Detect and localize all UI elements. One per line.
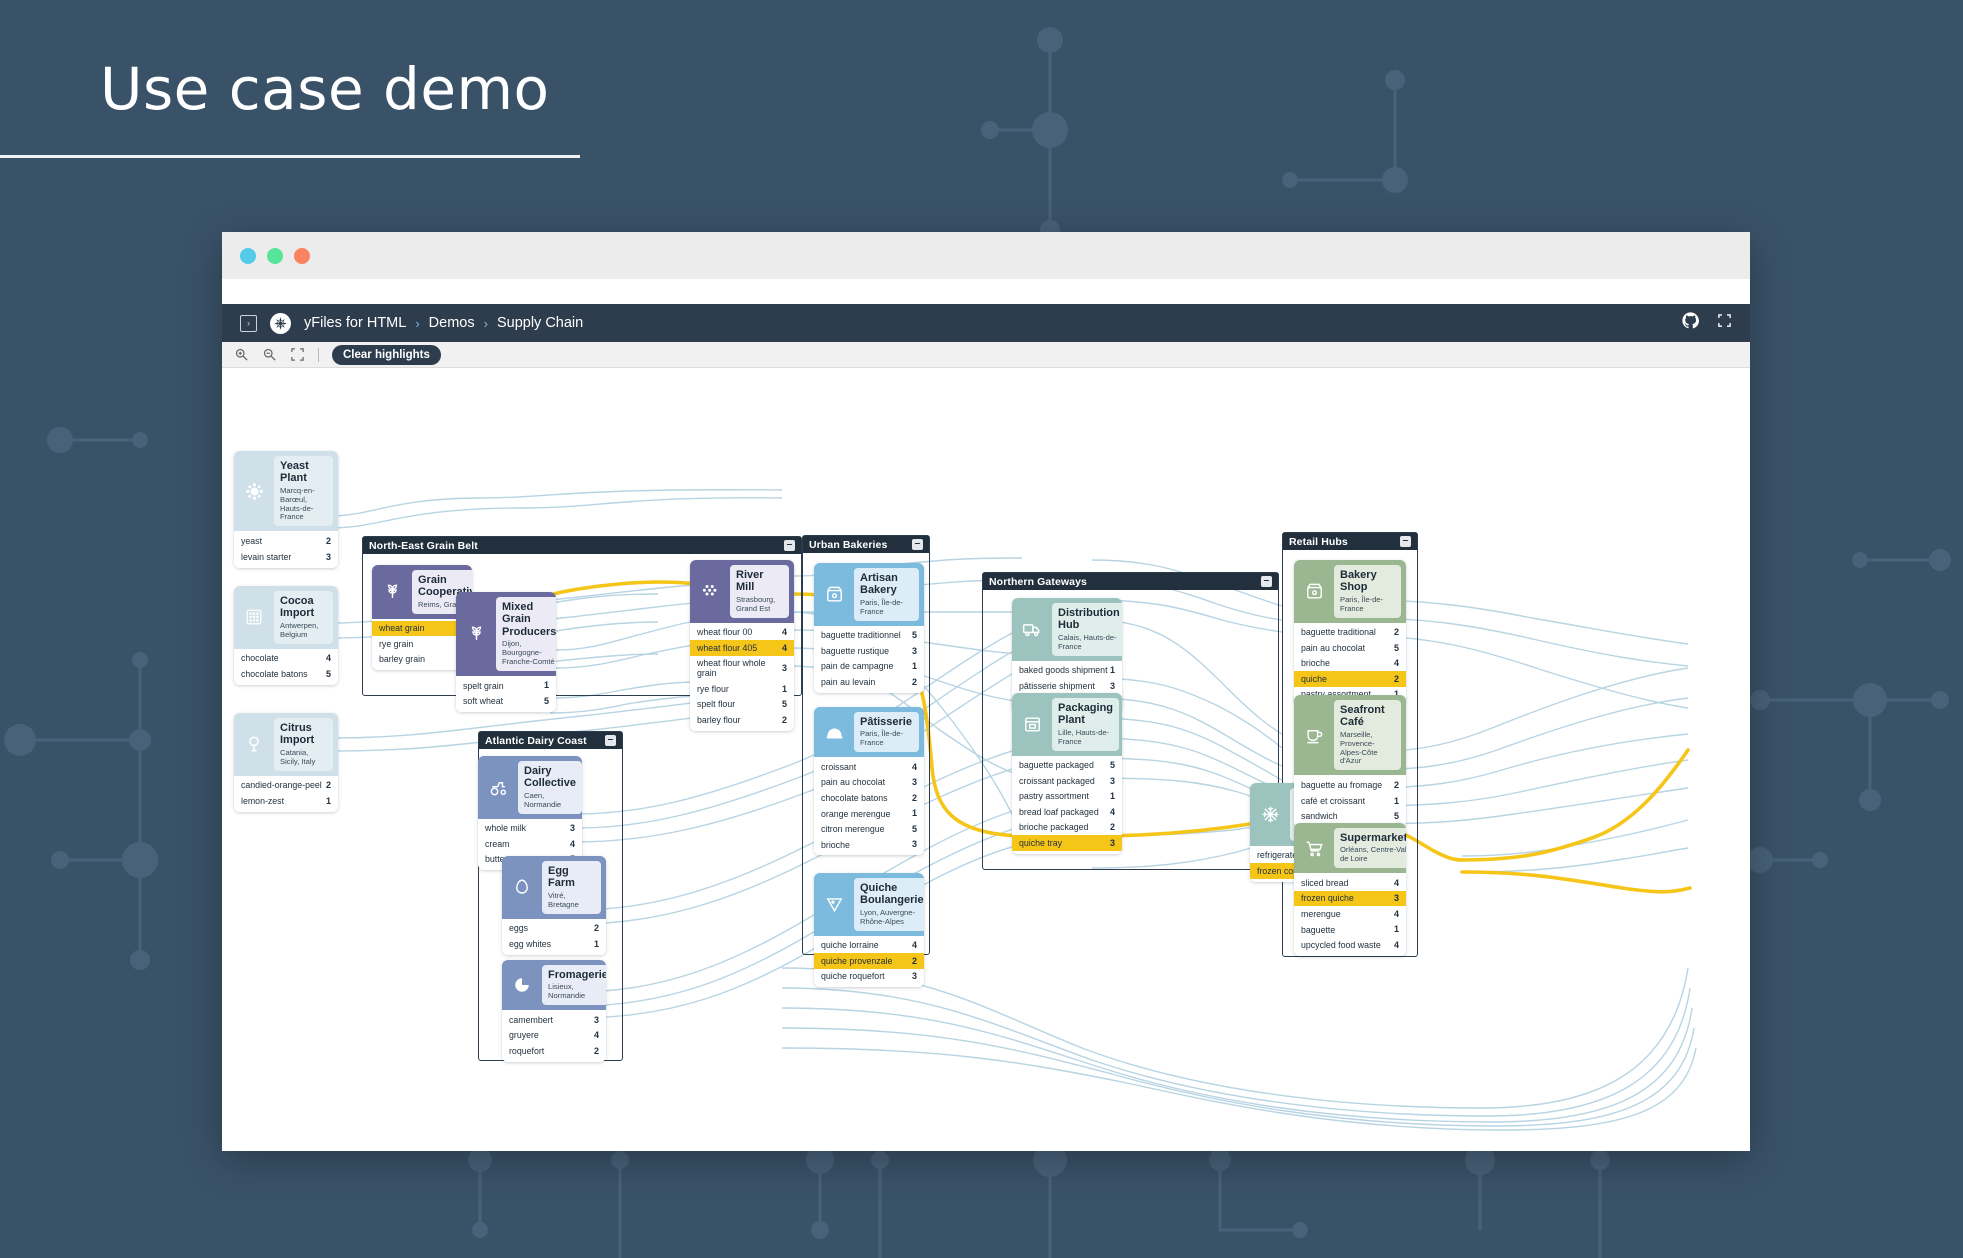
row-qty: 4 xyxy=(594,1030,599,1040)
node-title: Egg Farm xyxy=(548,865,595,890)
mill-icon xyxy=(695,565,725,618)
row-qty: 5 xyxy=(1394,811,1399,821)
breadcrumb-separator-icon: › xyxy=(484,316,488,331)
node-row[interactable]: baguette packaged 5 xyxy=(1012,758,1122,774)
node-title: Citrus Import xyxy=(280,722,327,747)
node-titlebox: Citrus Import Catania, Sicily, Italy xyxy=(274,718,333,771)
row-qty: 1 xyxy=(326,796,331,806)
node-header: Mixed Grain Producers Dijon, Bourgogne-F… xyxy=(456,592,556,676)
truck-icon xyxy=(1017,603,1047,656)
row-label: baguette packaged xyxy=(1019,760,1094,770)
row-qty: 3 xyxy=(1110,776,1115,786)
row-qty: 2 xyxy=(1394,627,1399,637)
node-header: Seafront Café Marseille, Provence-Alpes-… xyxy=(1294,695,1406,775)
fit-content-icon[interactable] xyxy=(290,347,305,362)
row-label: chocolate xyxy=(241,653,279,663)
row-label: wheat flour 00 xyxy=(697,627,752,637)
row-label: spelt grain xyxy=(463,681,504,691)
collapse-button[interactable]: – xyxy=(784,540,795,551)
breadcrumb-separator-icon: › xyxy=(415,316,419,331)
browser-urlbar[interactable] xyxy=(222,279,1750,304)
node-bakery-shop[interactable]: Bakery Shop Paris, Île-de-France baguett… xyxy=(1294,560,1406,705)
row-label: wheat grain xyxy=(379,623,424,633)
node-titlebox: Distribution Hub Calais, Hauts-de-France xyxy=(1052,603,1122,656)
row-qty: 2 xyxy=(1394,674,1399,684)
node-header: Artisan Bakery Paris, Île-de-France xyxy=(814,563,924,626)
row-label: roquefort xyxy=(509,1046,544,1056)
row-label: pain au chocolat xyxy=(1301,643,1365,653)
row-label: barley grain xyxy=(379,654,425,664)
node-row[interactable]: pain de campagne 1 xyxy=(814,659,924,675)
node-subtitle: Orléans, Centre-Val de Loire xyxy=(1340,846,1406,864)
row-qty: 3 xyxy=(594,1015,599,1025)
node-titlebox: Dairy Collective Caen, Normandie xyxy=(518,761,582,814)
browser-window: › yFiles for HTML › Demos › Supply Chain xyxy=(222,232,1750,1149)
yfiles-logo-icon xyxy=(270,313,291,334)
row-label: yeast xyxy=(241,536,262,546)
row-label: upcycled food waste xyxy=(1301,940,1381,950)
node-rows: candied-orange-peel 2 lemon-zest 1 xyxy=(234,776,338,812)
row-label: baguette traditional xyxy=(1301,627,1376,637)
zoom-out-icon[interactable] xyxy=(262,347,277,362)
node-fromagerie[interactable]: Fromagerie Lisieux, Normandie camembert … xyxy=(502,960,606,1062)
node-subtitle: Lisieux, Normandie xyxy=(548,983,606,1001)
node-subtitle: Lille, Hauts-de-France xyxy=(1058,729,1113,747)
node-subtitle: Calais, Hauts-de-France xyxy=(1058,634,1120,652)
row-label: candied-orange-peel xyxy=(241,780,322,790)
node-packaging-plant[interactable]: Packaging Plant Lille, Hauts-de-France b… xyxy=(1012,693,1122,854)
node-row[interactable]: brioche packaged 2 xyxy=(1012,820,1122,836)
row-qty: 2 xyxy=(326,780,331,790)
node-row[interactable]: quiche provenzale 2 xyxy=(814,953,924,969)
node-row[interactable]: cream 4 xyxy=(478,836,582,852)
row-qty: 3 xyxy=(1394,893,1399,903)
row-label: pain au levain xyxy=(821,677,875,687)
row-qty: 4 xyxy=(782,643,787,653)
node-row[interactable]: yeast 2 xyxy=(234,533,338,549)
row-qty: 2 xyxy=(912,793,917,803)
node-row[interactable]: whole milk 3 xyxy=(478,821,582,837)
node-title: Seafront Café xyxy=(1340,704,1395,729)
group-header: Retail Hubs – xyxy=(1283,533,1417,550)
node-row[interactable]: wheat flour 00 4 xyxy=(690,625,794,641)
row-label: eggs xyxy=(509,923,528,933)
node-supermarket[interactable]: Supermarket Orléans, Centre-Val de Loire… xyxy=(1294,823,1406,956)
node-subtitle: Paris, Île-de-France xyxy=(860,599,913,617)
node-title: Packaging Plant xyxy=(1058,702,1113,727)
croissant-icon xyxy=(819,712,849,752)
row-label: wheat flour whole grain xyxy=(697,658,782,678)
node-row[interactable]: wheat flour 405 4 xyxy=(690,640,794,656)
node-row[interactable]: brioche 3 xyxy=(814,837,924,853)
row-qty: 1 xyxy=(1110,791,1115,801)
minimize-dot[interactable] xyxy=(267,248,283,264)
node-row[interactable]: spelt grain 1 xyxy=(456,678,556,694)
node-row[interactable]: pain au levain 2 xyxy=(814,674,924,690)
node-row[interactable]: sliced bread 4 xyxy=(1294,875,1406,891)
node-header: Pâtisserie Paris, Île-de-France xyxy=(814,707,924,757)
node-header: Quiche Boulangerie Lyon, Auvergne-Rhône-… xyxy=(814,873,924,936)
group-header: Northern Gateways – xyxy=(983,573,1278,590)
row-label: egg whites xyxy=(509,939,551,949)
page-title: Use case demo xyxy=(100,55,550,123)
node-row[interactable]: lemon-zest 1 xyxy=(234,793,338,809)
node-row[interactable]: baguette traditional 2 xyxy=(1294,625,1406,641)
node-titlebox: Cocoa Import Antwerpen, Belgium xyxy=(274,591,333,644)
node-row[interactable]: spelt flour 5 xyxy=(690,697,794,713)
row-label: café et croissant xyxy=(1301,796,1365,806)
row-qty: 3 xyxy=(912,971,917,981)
node-titlebox: Fromagerie Lisieux, Normandie xyxy=(542,965,606,1005)
graph-canvas[interactable]: North-East Grain Belt – Atlantic Dairy C… xyxy=(222,368,1750,1151)
fullscreen-icon[interactable] xyxy=(1717,313,1732,333)
row-label: whole milk xyxy=(485,823,526,833)
node-row[interactable]: soft wheat 5 xyxy=(456,693,556,709)
node-rows: croissant 4 pain au chocolat 3 chocolate… xyxy=(814,757,924,855)
node-row[interactable]: gruyere 4 xyxy=(502,1028,606,1044)
node-titlebox: River Mill Strasbourg, Grand Est xyxy=(730,565,789,618)
row-qty: 3 xyxy=(326,552,331,562)
row-qty: 1 xyxy=(1110,665,1115,675)
node-header: Supermarket Orléans, Centre-Val de Loire xyxy=(1294,823,1406,873)
row-qty: 3 xyxy=(570,823,575,833)
row-label: citron merengue xyxy=(821,824,885,834)
row-label: pain au chocolat xyxy=(821,777,885,787)
node-row[interactable]: brioche 4 xyxy=(1294,656,1406,672)
row-label: quiche roquefort xyxy=(821,971,885,981)
row-label: pastry assortment xyxy=(1019,791,1089,801)
node-rows: spelt grain 1 soft wheat 5 xyxy=(456,676,556,712)
node-titlebox: Seafront Café Marseille, Provence-Alpes-… xyxy=(1334,700,1401,770)
node-title: Dairy Collective xyxy=(524,765,576,790)
row-qty: 4 xyxy=(1394,909,1399,919)
app-header: › yFiles for HTML › Demos › Supply Chain xyxy=(222,304,1750,342)
node-row[interactable]: quiche tray 3 xyxy=(1012,835,1122,851)
node-titlebox: Supermarket Orléans, Centre-Val de Loire xyxy=(1334,828,1406,868)
breadcrumb-item-supply-chain[interactable]: Supply Chain xyxy=(497,315,583,331)
node-subtitle: Catania, Sicily, Italy xyxy=(280,749,327,767)
node-rows: baguette packaged 5 croissant packaged 3… xyxy=(1012,756,1122,854)
cocoa-grid-icon xyxy=(239,591,269,644)
row-label: wheat flour 405 xyxy=(697,643,757,653)
snowflake-icon xyxy=(1255,788,1285,841)
row-qty: 5 xyxy=(1394,643,1399,653)
row-label: levain starter xyxy=(241,552,291,562)
node-row[interactable]: quiche lorraine 4 xyxy=(814,938,924,954)
node-header: River Mill Strasbourg, Grand Est xyxy=(690,560,794,623)
group-label: Atlantic Dairy Coast xyxy=(485,735,587,747)
row-label: camembert xyxy=(509,1015,553,1025)
browser-titlebar xyxy=(222,232,1750,279)
node-row[interactable]: rye flour 1 xyxy=(690,681,794,697)
row-qty: 3 xyxy=(912,839,917,849)
row-qty: 4 xyxy=(326,653,331,663)
node-title: Distribution Hub xyxy=(1058,607,1120,632)
row-qty: 5 xyxy=(782,699,787,709)
node-citrus-import[interactable]: Citrus Import Catania, Sicily, Italy can… xyxy=(234,713,338,812)
node-row[interactable]: eggs 2 xyxy=(502,921,606,937)
node-artisan-bakery[interactable]: Artisan Bakery Paris, Île-de-France bagu… xyxy=(814,563,924,693)
node-titlebox: Artisan Bakery Paris, Île-de-France xyxy=(854,568,919,621)
node-row[interactable]: citron merengue 5 xyxy=(814,821,924,837)
citrus-icon xyxy=(239,718,269,771)
row-label: quiche tray xyxy=(1019,838,1062,848)
maximize-dot[interactable] xyxy=(294,248,310,264)
node-title: Pâtisserie xyxy=(860,716,913,728)
node-row[interactable]: wheat flour whole grain 3 xyxy=(690,656,794,681)
node-subtitle: Lyon, Auvergne-Rhône-Alpes xyxy=(860,909,924,927)
row-label: pain de campagne xyxy=(821,661,893,671)
row-label: baguette xyxy=(1301,925,1335,935)
collapse-button[interactable]: – xyxy=(605,735,616,746)
node-title: River Mill xyxy=(736,569,783,594)
header-actions xyxy=(1682,312,1732,334)
row-qty: 1 xyxy=(594,939,599,949)
node-row[interactable]: baguette rustique 3 xyxy=(814,643,924,659)
row-label: quiche xyxy=(1301,674,1327,684)
row-qty: 3 xyxy=(912,646,917,656)
sidebar-toggle-icon[interactable]: › xyxy=(240,315,257,332)
row-label: merengue xyxy=(1301,909,1341,919)
row-qty: 2 xyxy=(1110,822,1115,832)
node-quiche-boulangerie[interactable]: Quiche Boulangerie Lyon, Auvergne-Rhône-… xyxy=(814,873,924,987)
node-header: Distribution Hub Calais, Hauts-de-France xyxy=(1012,598,1122,661)
row-qty: 5 xyxy=(912,824,917,834)
node-titlebox: Mixed Grain Producers Dijon, Bourgogne-F… xyxy=(496,597,556,671)
row-label: lemon-zest xyxy=(241,796,284,806)
node-seafront-cafe[interactable]: Seafront Café Marseille, Provence-Alpes-… xyxy=(1294,695,1406,827)
row-qty: 4 xyxy=(1110,807,1115,817)
node-header: Bakery Shop Paris, Île-de-France xyxy=(1294,560,1406,623)
node-row[interactable]: egg whites 1 xyxy=(502,936,606,952)
node-cocoa-import[interactable]: Cocoa Import Antwerpen, Belgium chocolat… xyxy=(234,586,338,685)
group-label: North-East Grain Belt xyxy=(369,540,478,552)
node-row[interactable]: roquefort 2 xyxy=(502,1043,606,1059)
node-row[interactable]: pain au chocolat 3 xyxy=(814,775,924,791)
row-label: baguette rustique xyxy=(821,646,889,656)
node-header: Packaging Plant Lille, Hauts-de-France xyxy=(1012,693,1122,756)
yeast-icon xyxy=(239,456,269,526)
node-titlebox: Egg Farm Vitré, Bretagne xyxy=(542,861,601,914)
zoom-in-icon[interactable] xyxy=(234,347,249,362)
node-row[interactable]: pâtisserie shipment 3 xyxy=(1012,678,1122,694)
node-dairy-collective[interactable]: Dairy Collective Caen, Normandie whole m… xyxy=(478,756,582,870)
node-rows: quiche lorraine 4 quiche provenzale 2 qu… xyxy=(814,936,924,988)
row-qty: 3 xyxy=(1110,681,1115,691)
row-label: frozen quiche xyxy=(1301,893,1354,903)
row-qty: 4 xyxy=(912,762,917,772)
node-row[interactable]: café et croissant 1 xyxy=(1294,793,1406,809)
row-label: bread loaf packaged xyxy=(1019,807,1099,817)
collapse-button[interactable]: – xyxy=(1261,576,1272,587)
row-label: rye flour xyxy=(697,684,729,694)
node-rows: baguette traditional 2 pain au chocolat … xyxy=(1294,623,1406,706)
group-label: Urban Bakeries xyxy=(809,539,887,551)
node-rows: yeast 2 levain starter 3 xyxy=(234,531,338,567)
group-header: North-East Grain Belt – xyxy=(363,537,801,554)
row-label: brioche xyxy=(821,840,850,850)
node-row[interactable]: pastry assortment 1 xyxy=(1012,789,1122,805)
row-label: quiche provenzale xyxy=(821,956,892,966)
row-qty: 1 xyxy=(782,684,787,694)
node-row[interactable]: baguette au fromage 2 xyxy=(1294,777,1406,793)
node-titlebox: Yeast Plant Marcq-en-Barœul, Hauts-de-Fr… xyxy=(274,456,333,526)
row-qty: 2 xyxy=(594,923,599,933)
row-label: cream xyxy=(485,839,509,849)
node-river-mill[interactable]: River Mill Strasbourg, Grand Est wheat f… xyxy=(690,560,794,731)
node-row[interactable]: orange merengue 1 xyxy=(814,806,924,822)
toolbar-divider xyxy=(318,348,319,362)
node-subtitle: Antwerpen, Belgium xyxy=(280,622,327,640)
node-yeast-plant[interactable]: Yeast Plant Marcq-en-Barœul, Hauts-de-Fr… xyxy=(234,451,338,568)
row-label: baked goods shipment xyxy=(1019,665,1108,675)
group-header: Atlantic Dairy Coast – xyxy=(479,732,622,749)
box-icon xyxy=(1017,698,1047,751)
node-row[interactable]: frozen quiche 3 xyxy=(1294,891,1406,907)
row-qty: 1 xyxy=(1394,796,1399,806)
node-row[interactable]: levain starter 3 xyxy=(234,549,338,565)
breadcrumb: yFiles for HTML › Demos › Supply Chain xyxy=(304,315,583,331)
row-qty: 5 xyxy=(912,630,917,640)
node-subtitle: Paris, Île-de-France xyxy=(860,730,913,748)
breadcrumb-item-product[interactable]: yFiles for HTML xyxy=(304,315,406,331)
row-label: orange merengue xyxy=(821,809,890,819)
row-qty: 1 xyxy=(912,808,917,818)
row-qty: 5 xyxy=(544,696,549,706)
row-label: sliced bread xyxy=(1301,878,1348,888)
node-title: Cocoa Import xyxy=(280,595,327,620)
bread-icon xyxy=(819,568,849,621)
node-subtitle: Paris, Île-de-France xyxy=(1340,596,1395,614)
node-row[interactable]: chocolate 4 xyxy=(234,651,338,667)
row-label: croissant xyxy=(821,762,856,772)
node-subtitle: Marseille, Provence-Alpes-Côte d'Azur xyxy=(1340,731,1395,767)
node-rows: baguette au fromage 2 café et croissant … xyxy=(1294,775,1406,827)
quiche-icon xyxy=(819,878,849,931)
node-row[interactable]: merengue 4 xyxy=(1294,906,1406,922)
row-label: baguette traditionnel xyxy=(821,630,901,640)
node-titlebox: Bakery Shop Paris, Île-de-France xyxy=(1334,565,1401,618)
node-row[interactable]: barley flour 2 xyxy=(690,712,794,728)
row-qty: 2 xyxy=(594,1046,599,1056)
shopping-cart-icon xyxy=(1299,828,1329,868)
row-label: croissant packaged xyxy=(1019,776,1095,786)
node-title: Yeast Plant xyxy=(280,460,327,485)
node-row[interactable]: baked goods shipment 1 xyxy=(1012,663,1122,679)
node-row[interactable]: upcycled food waste 4 xyxy=(1294,937,1406,953)
group-label: Retail Hubs xyxy=(1289,536,1348,548)
row-label: brioche packaged xyxy=(1019,822,1088,832)
tractor-icon xyxy=(483,761,513,814)
github-icon[interactable] xyxy=(1682,312,1699,334)
node-header: Fromagerie Lisieux, Normandie xyxy=(502,960,606,1010)
node-subtitle: Caen, Normandie xyxy=(524,792,576,810)
node-row[interactable]: quiche roquefort 3 xyxy=(814,969,924,985)
row-label: spelt flour xyxy=(697,699,735,709)
row-label: brioche xyxy=(1301,658,1330,668)
clear-highlights-button[interactable]: Clear highlights xyxy=(332,345,441,365)
node-subtitle: Marcq-en-Barœul, Hauts-de-France xyxy=(280,487,327,523)
node-rows: eggs 2 egg whites 1 xyxy=(502,919,606,955)
node-rows: sliced bread 4 frozen quiche 3 merengue … xyxy=(1294,873,1406,956)
node-titlebox: Quiche Boulangerie Lyon, Auvergne-Rhône-… xyxy=(854,878,924,931)
row-qty: 2 xyxy=(326,536,331,546)
row-qty: 1 xyxy=(912,661,917,671)
node-title: Fromagerie xyxy=(548,969,606,981)
row-qty: 4 xyxy=(1394,658,1399,668)
row-qty: 1 xyxy=(1394,924,1399,934)
close-dot[interactable] xyxy=(240,248,256,264)
node-row[interactable]: sandwich 5 xyxy=(1294,809,1406,825)
node-rows: chocolate 4 chocolate batons 5 xyxy=(234,649,338,685)
node-title: Supermarket xyxy=(1340,832,1406,844)
node-row[interactable]: baguette 1 xyxy=(1294,922,1406,938)
bread-icon xyxy=(1299,565,1329,618)
row-label: sandwich xyxy=(1301,811,1338,821)
node-titlebox: Pâtisserie Paris, Île-de-France xyxy=(854,712,919,752)
node-subtitle: Dijon, Bourgogne-Franche-Comté xyxy=(502,640,556,667)
wheat-icon xyxy=(461,597,491,671)
row-label: soft wheat xyxy=(463,696,503,706)
node-row[interactable]: chocolate batons 5 xyxy=(234,666,338,682)
row-qty: 2 xyxy=(912,956,917,966)
row-label: baguette au fromage xyxy=(1301,780,1382,790)
node-rows: wheat flour 00 4 wheat flour 405 4 wheat… xyxy=(690,623,794,731)
node-row[interactable]: croissant packaged 3 xyxy=(1012,773,1122,789)
node-mixed-grain-producers[interactable]: Mixed Grain Producers Dijon, Bourgogne-F… xyxy=(456,592,556,712)
node-row[interactable]: croissant 4 xyxy=(814,759,924,775)
row-qty: 4 xyxy=(782,627,787,637)
row-label: rye grain xyxy=(379,639,413,649)
node-row[interactable]: bread loaf packaged 4 xyxy=(1012,804,1122,820)
row-label: gruyere xyxy=(509,1030,539,1040)
node-title: Artisan Bakery xyxy=(860,572,913,597)
coffee-cup-icon xyxy=(1299,700,1329,770)
row-label: barley flour xyxy=(697,715,741,725)
node-header: Dairy Collective Caen, Normandie xyxy=(478,756,582,819)
title-underline xyxy=(0,155,580,158)
node-header: Egg Farm Vitré, Bretagne xyxy=(502,856,606,919)
node-row[interactable]: camembert 3 xyxy=(502,1012,606,1028)
row-qty: 2 xyxy=(912,677,917,687)
node-row[interactable]: baguette traditionnel 5 xyxy=(814,628,924,644)
collapse-button[interactable]: – xyxy=(1400,536,1411,547)
row-qty: 4 xyxy=(570,839,575,849)
row-qty: 2 xyxy=(1394,780,1399,790)
node-rows: baguette traditionnel 5 baguette rustiqu… xyxy=(814,626,924,693)
row-qty: 5 xyxy=(1110,760,1115,770)
collapse-button[interactable]: – xyxy=(912,539,923,550)
node-row[interactable]: candied-orange-peel 2 xyxy=(234,778,338,794)
row-qty: 3 xyxy=(782,663,787,673)
cheese-icon xyxy=(507,965,537,1005)
breadcrumb-item-demos[interactable]: Demos xyxy=(429,315,475,331)
node-row[interactable]: quiche 2 xyxy=(1294,671,1406,687)
node-titlebox: Packaging Plant Lille, Hauts-de-France xyxy=(1052,698,1119,751)
node-header: Yeast Plant Marcq-en-Barœul, Hauts-de-Fr… xyxy=(234,451,338,531)
node-row[interactable]: pain au chocolat 5 xyxy=(1294,640,1406,656)
node-header: Cocoa Import Antwerpen, Belgium xyxy=(234,586,338,649)
node-title: Mixed Grain Producers xyxy=(502,601,556,638)
node-header: Citrus Import Catania, Sicily, Italy xyxy=(234,713,338,776)
node-patisserie[interactable]: Pâtisserie Paris, Île-de-France croissan… xyxy=(814,707,924,855)
node-row[interactable]: chocolate batons 2 xyxy=(814,790,924,806)
row-label: pâtisserie shipment xyxy=(1019,681,1095,691)
node-egg-farm[interactable]: Egg Farm Vitré, Bretagne eggs 2 egg whit… xyxy=(502,856,606,955)
row-qty: 1 xyxy=(544,680,549,690)
row-label: chocolate batons xyxy=(821,793,888,803)
egg-icon xyxy=(507,861,537,914)
